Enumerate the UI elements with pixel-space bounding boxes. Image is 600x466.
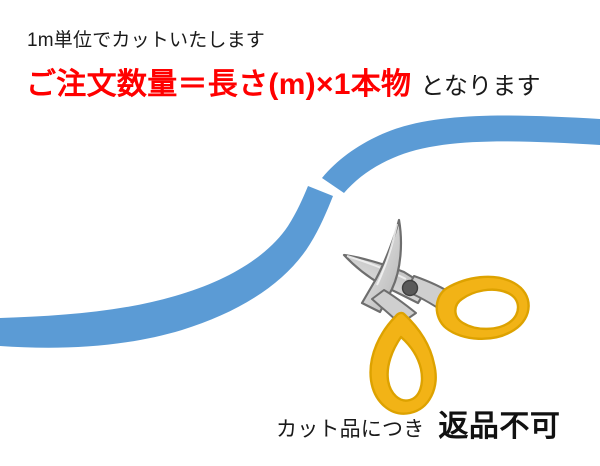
formula-line: ご注文数量＝長さ(m)×1本物となります <box>26 70 541 100</box>
scissors-pivot-screw <box>403 281 418 296</box>
blue-cable-right-segment <box>322 116 600 193</box>
scissors <box>344 220 529 414</box>
illustration-canvas: 1m単位でカットいたします ご注文数量＝長さ(m)×1本物となります カット品に… <box>0 0 600 466</box>
footer-line: カット品につき返品不可 <box>276 412 560 442</box>
blue-cable-left-segment <box>0 186 333 348</box>
scissors-handle-bottom <box>371 313 436 414</box>
lead-text: 1m単位でカットいたします <box>27 31 265 50</box>
formula-highlight: ご注文数量＝長さ(m)×1本物 <box>26 68 411 101</box>
footer-emphasis: 返品不可 <box>438 410 560 443</box>
formula-suffix: となります <box>420 73 540 100</box>
footer-prefix: カット品につき <box>276 418 424 441</box>
scissors-handle-right <box>437 277 529 339</box>
